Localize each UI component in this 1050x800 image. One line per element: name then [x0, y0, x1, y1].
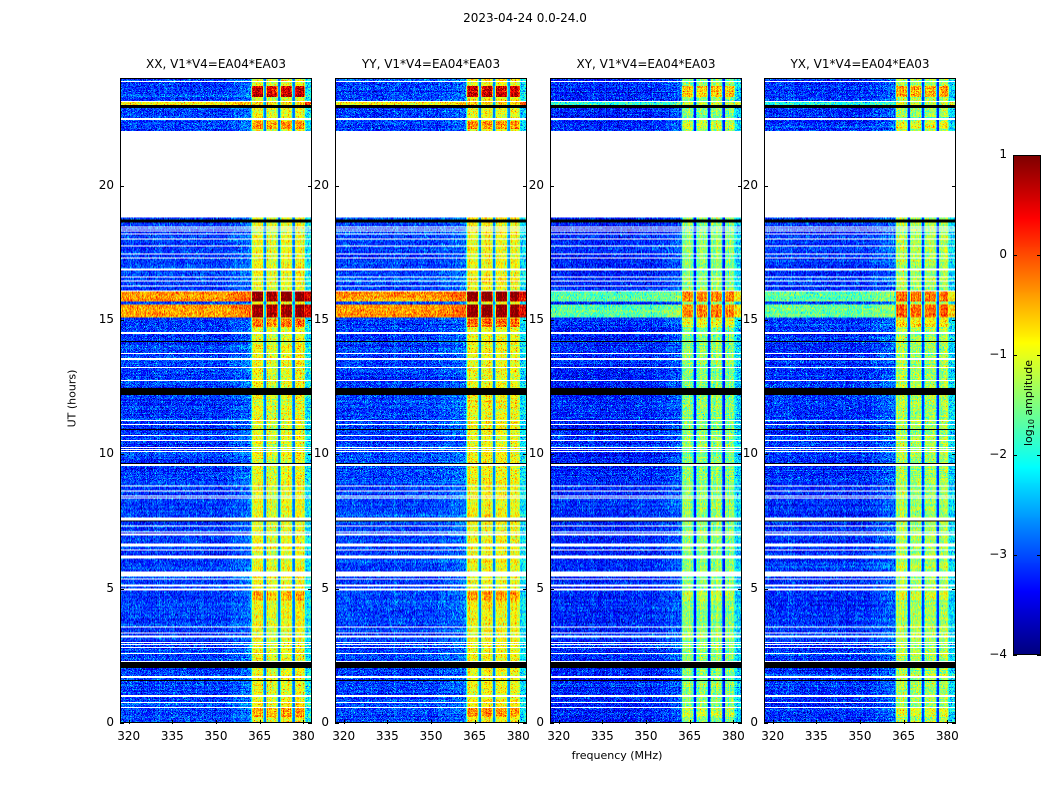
x-tick-label: 335	[577, 729, 627, 743]
x-tick-label: 365	[879, 729, 929, 743]
y-tick-label: 0	[82, 715, 114, 729]
y-tick-label: 15	[726, 312, 758, 326]
colorbar-tick-mark	[1037, 655, 1041, 656]
colorbar-tick-label: 0	[973, 247, 1007, 261]
colorbar-tick-mark	[1013, 655, 1017, 656]
spectrum-image-xy	[551, 79, 741, 722]
x-tick-label: 320	[534, 729, 584, 743]
dynamic-spectrum-yy[interactable]	[335, 78, 527, 723]
x-tick-label: 350	[406, 729, 456, 743]
x-tick-mark	[129, 720, 130, 724]
y-tick-mark	[764, 723, 768, 724]
y-tick-mark	[550, 454, 554, 455]
x-tick-label: 335	[791, 729, 841, 743]
x-tick-mark	[947, 720, 948, 724]
y-tick-label: 10	[512, 446, 544, 460]
x-tick-label: 365	[665, 729, 715, 743]
dynamic-spectrum-yx[interactable]	[764, 78, 956, 723]
x-tick-mark	[344, 720, 345, 724]
colorbar-tick-mark	[1013, 255, 1017, 256]
y-tick-mark	[764, 589, 768, 590]
colorbar-tick-label: 1	[973, 147, 1007, 161]
y-tick-mark	[550, 186, 554, 187]
colorbar-tick-label: −1	[973, 347, 1007, 361]
colorbar-tick-label: −4	[973, 647, 1007, 661]
y-tick-mark	[335, 454, 339, 455]
colorbar-tick-mark	[1037, 155, 1041, 156]
x-tick-label: 350	[191, 729, 241, 743]
colorbar-label-tail: amplitude	[1022, 360, 1035, 419]
x-tick-label: 350	[621, 729, 671, 743]
colorbar-tick-mark	[1013, 155, 1017, 156]
x-tick-label: 365	[450, 729, 500, 743]
spectrum-image-yy	[336, 79, 526, 722]
y-tick-label: 5	[82, 581, 114, 595]
y-tick-label: 20	[297, 178, 329, 192]
y-tick-label: 15	[82, 312, 114, 326]
y-tick-mark	[120, 320, 124, 321]
x-tick-mark	[646, 720, 647, 724]
x-tick-label: 335	[362, 729, 412, 743]
x-tick-mark	[816, 720, 817, 724]
colorbar-label-subscript: 10	[1027, 419, 1036, 429]
x-tick-mark	[559, 720, 560, 724]
y-tick-label: 0	[726, 715, 758, 729]
y-tick-mark	[764, 320, 768, 321]
y-tick-mark	[764, 454, 768, 455]
y-tick-mark	[952, 454, 956, 455]
x-tick-label: 320	[104, 729, 154, 743]
colorbar-tick-label: −3	[973, 547, 1007, 561]
y-tick-label: 15	[297, 312, 329, 326]
x-tick-mark	[172, 720, 173, 724]
y-tick-label: 20	[512, 178, 544, 192]
y-tick-label: 15	[512, 312, 544, 326]
x-tick-mark	[216, 720, 217, 724]
y-tick-mark	[120, 723, 124, 724]
x-tick-label: 380	[922, 729, 972, 743]
x-tick-mark	[860, 720, 861, 724]
colorbar-tick-label: −2	[973, 447, 1007, 461]
colorbar-tick-mark	[1037, 455, 1041, 456]
x-tick-mark	[431, 720, 432, 724]
colorbar-tick-mark	[1013, 355, 1017, 356]
figure-suptitle: 2023-04-24 0.0-24.0	[0, 11, 1050, 25]
y-tick-label: 20	[726, 178, 758, 192]
y-tick-mark	[335, 723, 339, 724]
x-tick-mark	[475, 720, 476, 724]
panel-title-yx: YX, V1*V4=EA04*EA03	[730, 57, 990, 71]
y-tick-label: 5	[297, 581, 329, 595]
y-tick-label: 0	[297, 715, 329, 729]
x-tick-mark	[904, 720, 905, 724]
y-tick-mark	[764, 186, 768, 187]
y-tick-mark	[550, 723, 554, 724]
y-tick-label: 5	[512, 581, 544, 595]
spectrum-image-yx	[765, 79, 955, 722]
y-tick-label: 10	[82, 446, 114, 460]
y-tick-mark	[952, 723, 956, 724]
figure-canvas: 2023-04-24 0.0-24.0 XX, V1*V4=EA04*EA033…	[0, 0, 1050, 800]
y-tick-label: 5	[726, 581, 758, 595]
y-tick-label: 10	[297, 446, 329, 460]
colorbar-label: log10 amplitude	[1022, 343, 1036, 463]
y-tick-mark	[335, 186, 339, 187]
x-tick-label: 335	[147, 729, 197, 743]
y-tick-mark	[335, 589, 339, 590]
x-axis-label: frequency (MHz)	[517, 749, 717, 762]
colorbar-tick-mark	[1013, 555, 1017, 556]
y-axis-label: UT (hours)	[66, 338, 79, 458]
y-tick-mark	[120, 589, 124, 590]
y-tick-mark	[120, 186, 124, 187]
spectrum-image-xx	[121, 79, 311, 722]
colorbar-tick-mark	[1037, 355, 1041, 356]
y-tick-label: 0	[512, 715, 544, 729]
y-tick-mark	[952, 320, 956, 321]
dynamic-spectrum-xy[interactable]	[550, 78, 742, 723]
y-tick-mark	[550, 320, 554, 321]
y-tick-label: 20	[82, 178, 114, 192]
colorbar-tick-mark	[1037, 555, 1041, 556]
x-tick-mark	[260, 720, 261, 724]
x-tick-mark	[690, 720, 691, 724]
y-tick-mark	[120, 454, 124, 455]
x-tick-label: 350	[835, 729, 885, 743]
colorbar-tick-mark	[1037, 255, 1041, 256]
y-tick-mark	[952, 186, 956, 187]
x-tick-label: 320	[748, 729, 798, 743]
x-tick-label: 365	[235, 729, 285, 743]
dynamic-spectrum-xx[interactable]	[120, 78, 312, 723]
x-tick-label: 320	[319, 729, 369, 743]
y-tick-mark	[952, 589, 956, 590]
x-tick-mark	[773, 720, 774, 724]
x-tick-mark	[387, 720, 388, 724]
colorbar-label-main: log	[1022, 429, 1035, 446]
y-tick-label: 10	[726, 446, 758, 460]
colorbar-tick-mark	[1013, 455, 1017, 456]
x-tick-mark	[602, 720, 603, 724]
y-tick-mark	[550, 589, 554, 590]
y-tick-mark	[335, 320, 339, 321]
